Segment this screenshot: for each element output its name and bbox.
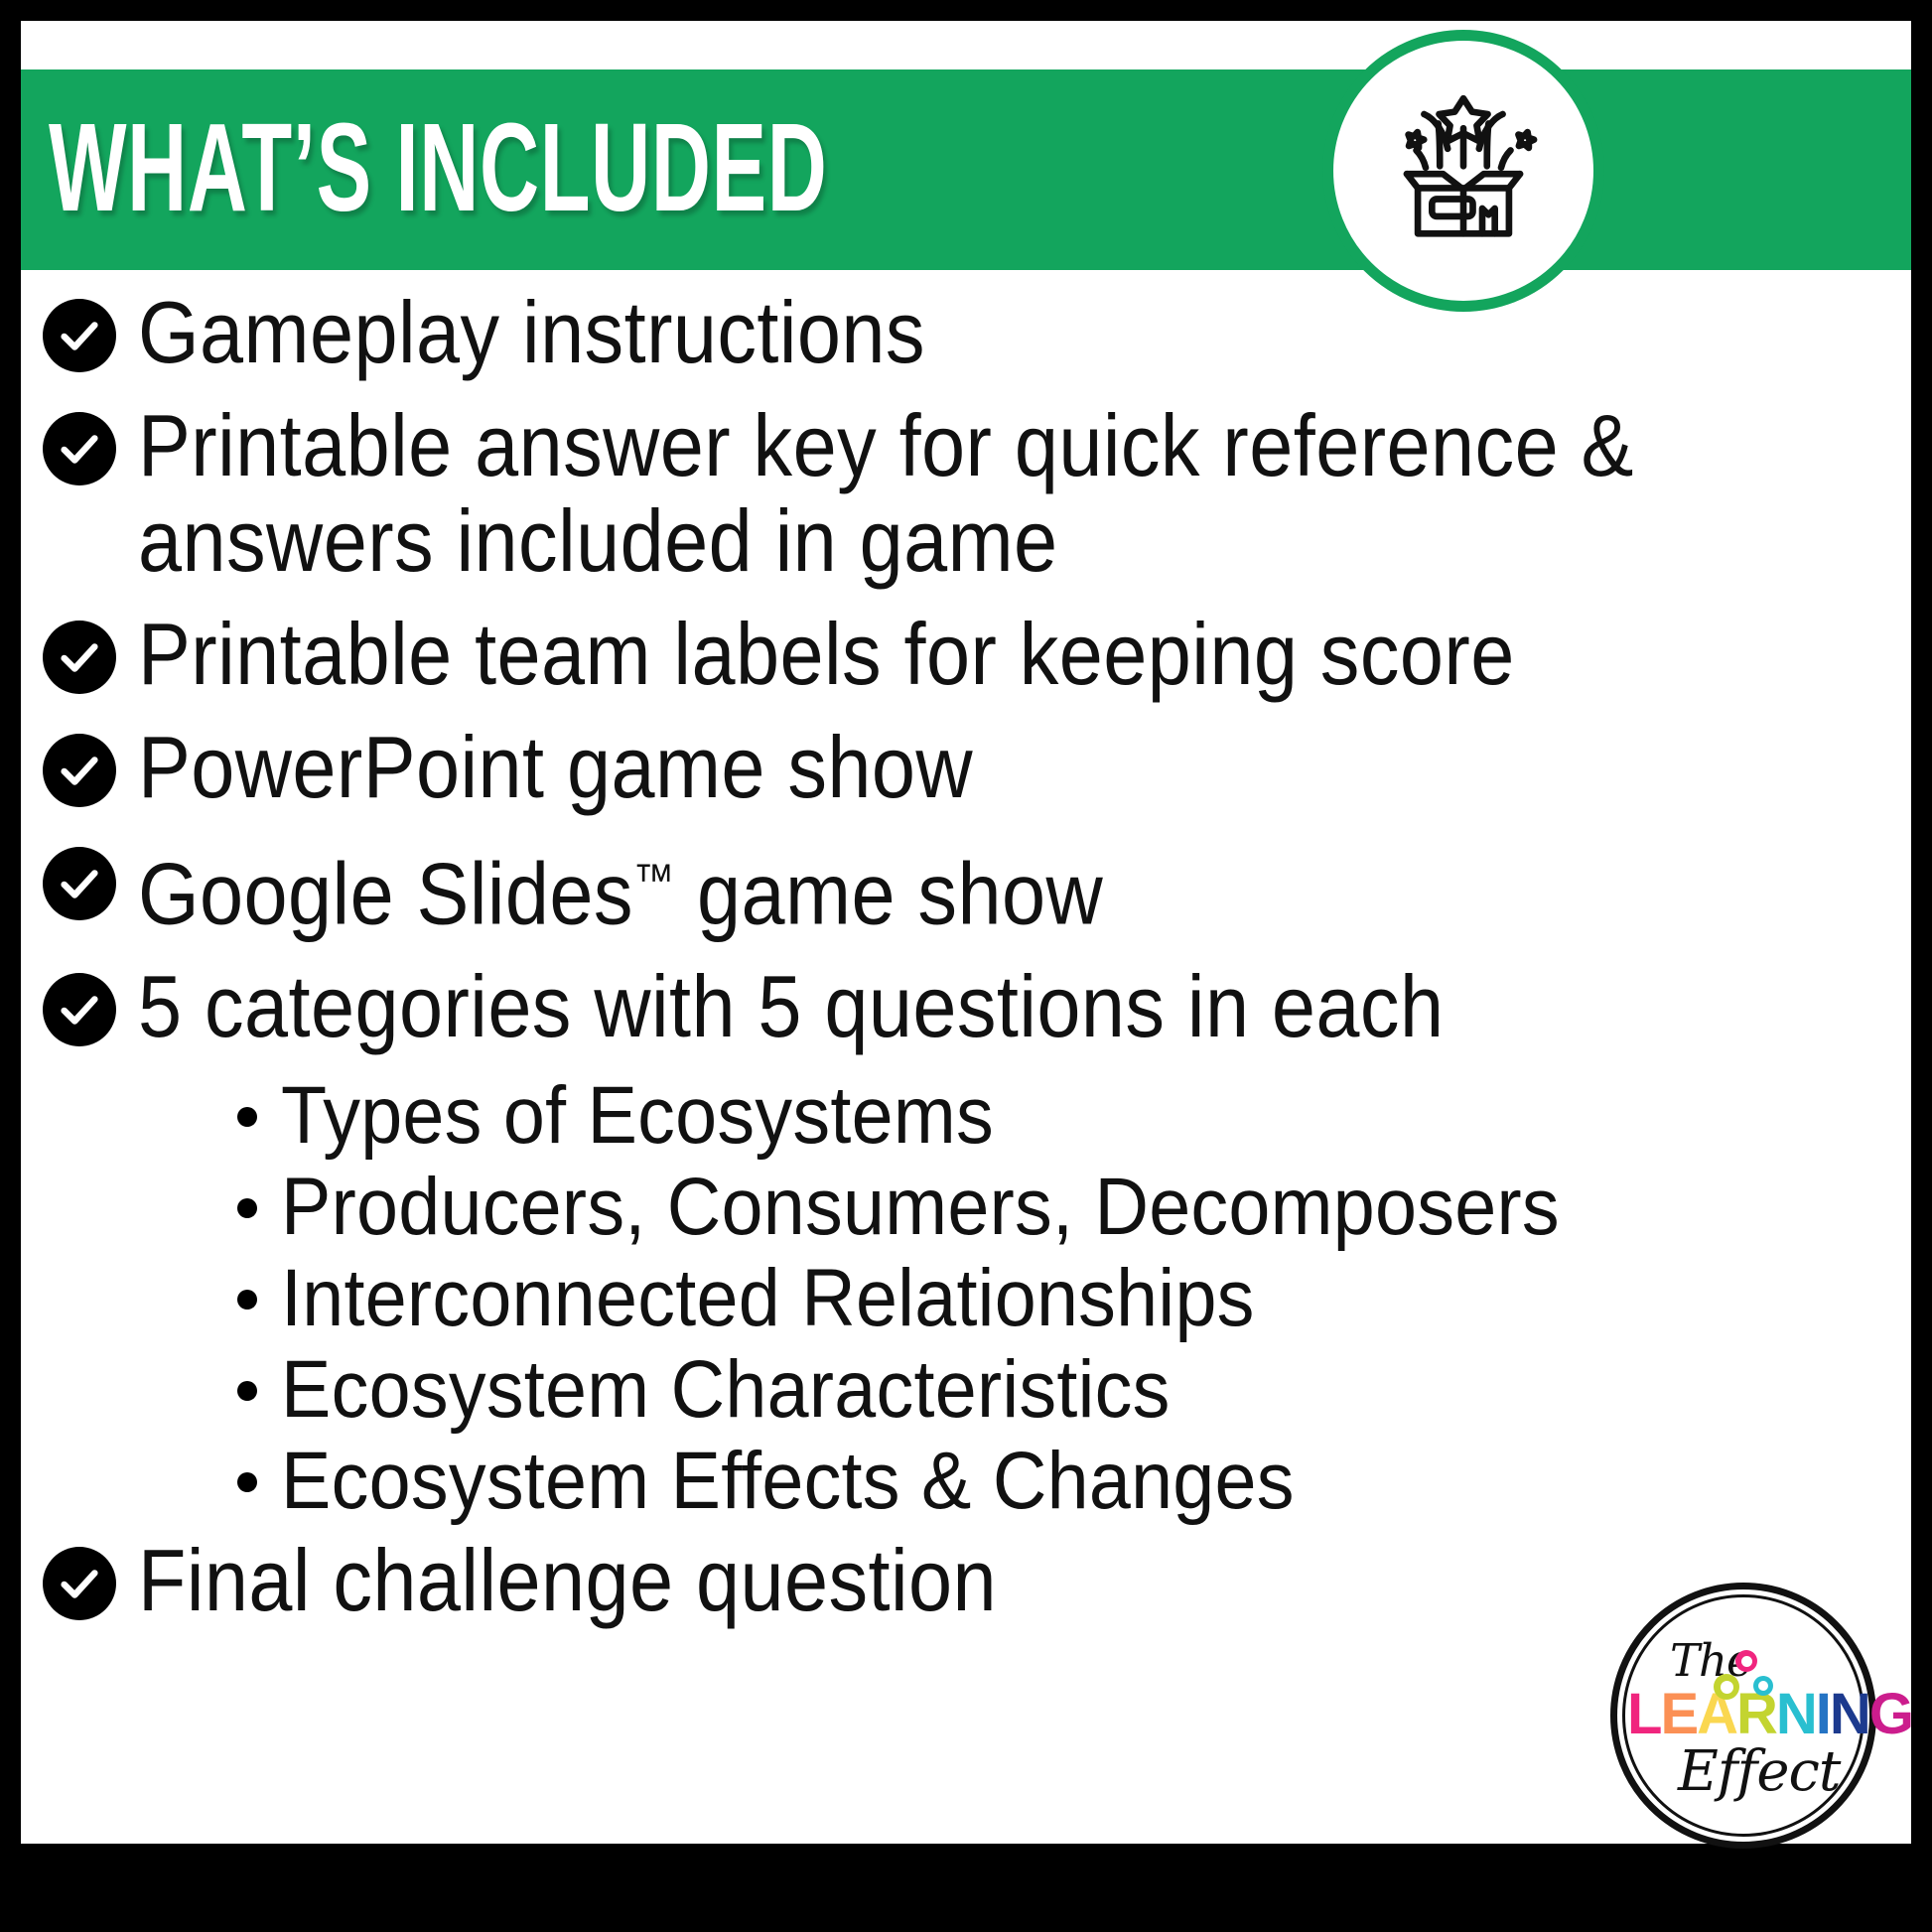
gear-icon: [1735, 1650, 1757, 1672]
logo-learning-text: LEARNING: [1627, 1686, 1860, 1743]
sublist-item-label: Producers, Consumers, Decomposers: [281, 1164, 1560, 1251]
gear-icon: [1714, 1674, 1739, 1700]
sublist-item: Producers, Consumers, Decomposers: [237, 1164, 1889, 1251]
sublist-item: Types of Ecosystems: [237, 1072, 1889, 1160]
dot-icon: [237, 1472, 257, 1492]
list-item-label: Printable team labels for keeping score: [138, 607, 1715, 702]
check-circle-icon: [43, 299, 116, 372]
list-item: PowerPoint game show: [43, 720, 1889, 815]
dot-icon: [237, 1107, 257, 1127]
list-item-label: Printable answer key for quick reference…: [138, 398, 1715, 589]
check-circle-icon: [43, 973, 116, 1046]
slide-canvas: WHAT’S INCLUDED: [21, 21, 1911, 1844]
check-circle-icon: [43, 734, 116, 807]
header-band: WHAT’S INCLUDED: [21, 69, 1911, 270]
sublist-item: Ecosystem Effects & Changes: [237, 1438, 1889, 1525]
open-box-confetti-icon: [1322, 30, 1604, 312]
list-item: Printable team labels for keeping score: [43, 607, 1889, 702]
brand-logo: The LEARNING Effect: [1610, 1583, 1876, 1849]
category-sublist: Types of Ecosystems Producers, Consumers…: [43, 1072, 1889, 1525]
check-circle-icon: [43, 847, 116, 920]
sublist-item: Interconnected Relationships: [237, 1255, 1889, 1342]
list-item-label: 5 categories with 5 questions in each: [138, 959, 1715, 1054]
list-item-label: Google Slides™ game show: [138, 833, 1715, 941]
gear-icon: [1753, 1676, 1773, 1696]
sublist-item: Ecosystem Characteristics: [237, 1346, 1889, 1434]
check-circle-icon: [43, 621, 116, 694]
list-item: Printable answer key for quick reference…: [43, 398, 1889, 589]
sublist-item-label: Interconnected Relationships: [281, 1255, 1255, 1342]
dot-icon: [237, 1198, 257, 1218]
sublist-item-label: Ecosystem Effects & Changes: [281, 1438, 1295, 1525]
sublist-item-label: Types of Ecosystems: [281, 1072, 994, 1160]
dot-icon: [237, 1290, 257, 1310]
list-item: Gameplay instructions: [43, 285, 1889, 380]
list-item-label: Gameplay instructions: [138, 285, 1715, 380]
slide-page: WHAT’S INCLUDED: [0, 0, 1932, 1932]
page-title: WHAT’S INCLUDED: [49, 105, 827, 230]
list-item-label: PowerPoint game show: [138, 720, 1715, 815]
list-item-label: Final challenge question: [138, 1533, 1715, 1628]
sublist-item-label: Ecosystem Characteristics: [281, 1346, 1171, 1434]
check-circle-icon: [43, 1547, 116, 1620]
logo-effect-text: Effect: [1678, 1739, 1840, 1804]
list-item: 5 categories with 5 questions in each: [43, 959, 1889, 1054]
check-circle-icon: [43, 412, 116, 485]
dot-icon: [237, 1381, 257, 1401]
list-item: Google Slides™ game show: [43, 833, 1889, 941]
included-list: Gameplay instructions Printable answer k…: [43, 285, 1889, 1646]
